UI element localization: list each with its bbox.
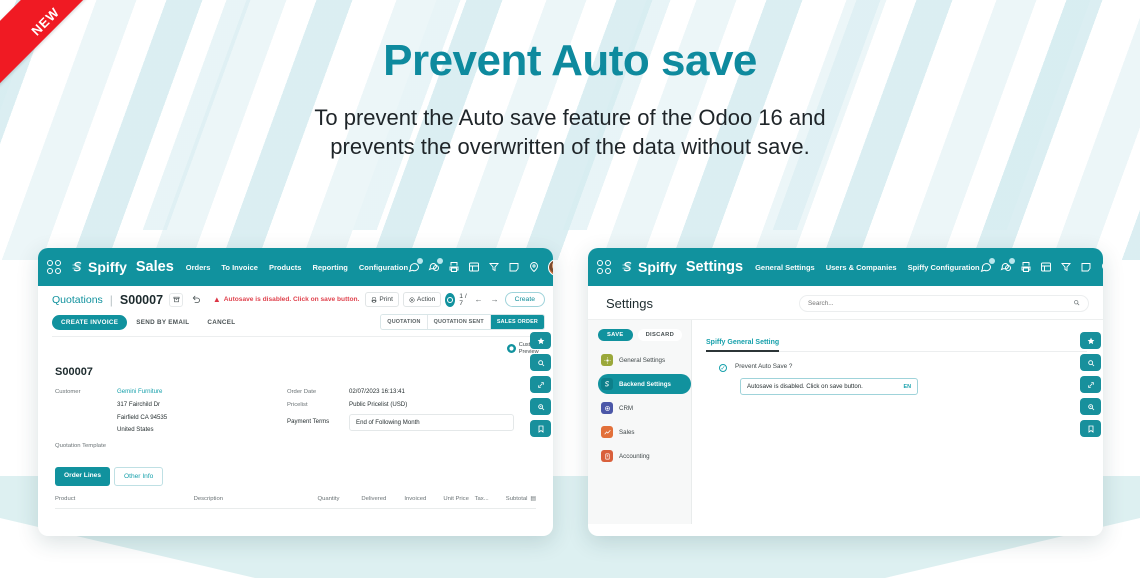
apps-grid-icon[interactable] — [47, 260, 61, 274]
brand-logo[interactable]: Spiffy — [620, 259, 677, 275]
left-control-panel: Quotations | S00007 ▲ Autosave is disabl… — [38, 286, 553, 337]
send-by-email-button[interactable]: SEND BY EMAIL — [127, 315, 198, 330]
menu-item-spiffy-configuration[interactable]: Spiffy Configuration — [908, 263, 980, 272]
record-indicator-icon — [445, 293, 455, 307]
prevent-auto-save-option: ✓ Prevent Auto Save ? — [706, 363, 1087, 372]
sales-order-screenshot: Spiffy Sales Orders To Invoice Products … — [38, 248, 553, 536]
settings-body: SAVE DISCARD General Settings Backend Se… — [588, 319, 1103, 524]
action-button[interactable]: Action — [403, 292, 441, 307]
current-app-name: Sales — [136, 259, 174, 275]
field-address-country: United States — [55, 426, 287, 435]
field-address-country-value: United States — [117, 426, 154, 435]
field-customer-value[interactable]: Gemini Furniture — [117, 388, 162, 397]
star-icon[interactable] — [1080, 332, 1101, 349]
undo-icon[interactable] — [189, 293, 203, 307]
field-customer-label: Customer — [55, 388, 117, 395]
note-icon[interactable] — [508, 261, 520, 273]
spiffy-icon — [601, 378, 613, 390]
check-circle-icon[interactable]: ✓ — [719, 364, 727, 372]
autosave-message-value: Autosave is disabled. Click on save butt… — [747, 383, 863, 390]
menu-item-orders[interactable]: Orders — [186, 263, 211, 272]
field-pricelist-value[interactable]: Public Pricelist (USD) — [349, 401, 407, 410]
customer-preview-button[interactable]: Customer Preview — [38, 337, 553, 356]
settings-main: Spiffy General Setting ✓ Prevent Auto Sa… — [692, 320, 1103, 524]
th-description: Description — [194, 496, 318, 502]
crm-icon — [601, 402, 613, 414]
menu-item-reporting[interactable]: Reporting — [312, 263, 347, 272]
sidebar-item-sales-label: Sales — [619, 429, 634, 436]
messages-badge — [417, 258, 423, 264]
settings-save-discard: SAVE DISCARD — [598, 329, 691, 341]
accounting-icon — [601, 450, 613, 462]
messages-icon[interactable] — [408, 261, 420, 273]
right-tool-tabs — [1080, 332, 1103, 437]
hero-subtitle: To prevent the Auto save feature of the … — [0, 103, 1140, 162]
th-delivered: Delivered — [361, 496, 404, 502]
cancel-button[interactable]: CANCEL — [198, 315, 244, 330]
search-icon[interactable] — [1073, 299, 1080, 308]
settings-sidebar: SAVE DISCARD General Settings Backend Se… — [588, 320, 692, 524]
th-invoiced: Invoiced — [404, 496, 443, 502]
form-right-column: Order Date 02/07/2023 16:13:41 Pricelist… — [287, 388, 539, 453]
breadcrumb-row: Quotations | S00007 ▲ Autosave is disabl… — [52, 292, 545, 307]
megaphone-icon[interactable] — [1060, 261, 1072, 273]
left-navbar: Spiffy Sales Orders To Invoice Products … — [38, 248, 553, 286]
apps-grid-icon[interactable] — [597, 260, 611, 274]
sidebar-item-general-settings-label: General Settings — [619, 357, 665, 364]
discard-button[interactable]: DISCARD — [638, 329, 683, 341]
column-options-icon[interactable]: ▤ — [530, 496, 536, 502]
brand-name: Spiffy — [638, 259, 677, 275]
activities-badge — [1009, 258, 1015, 264]
breadcrumb-record: S00007 — [120, 293, 163, 307]
spiffy-logo-icon — [70, 260, 85, 275]
field-order-date: Order Date 02/07/2023 16:13:41 — [287, 388, 539, 397]
right-nav-menu: General Settings Users & Companies Spiff… — [755, 263, 980, 272]
menu-item-general-settings[interactable]: General Settings — [755, 263, 815, 272]
form-left-column: Customer Gemini Furniture 317 Fairchild … — [55, 388, 287, 453]
field-order-date-value[interactable]: 02/07/2023 16:13:41 — [349, 388, 405, 397]
language-badge[interactable]: EN — [904, 384, 912, 390]
archive-icon[interactable] — [169, 293, 183, 307]
print-button-label: Print — [379, 296, 393, 303]
settings-header: Settings — [588, 286, 1103, 319]
search-input[interactable] — [808, 300, 1073, 307]
sidebar-item-crm[interactable]: CRM — [598, 398, 691, 418]
order-status-bar: QUOTATION QUOTATION SENT SALES ORDER — [380, 314, 545, 330]
field-address-line2: Fairfield CA 94535 — [55, 414, 287, 423]
menu-item-to-invoice[interactable]: To Invoice — [221, 263, 258, 272]
prevent-auto-save-label: Prevent Auto Save ? — [735, 363, 792, 370]
hero-subtitle-line2: prevents the overwritten of the data wit… — [0, 132, 1140, 162]
customer-preview-icon — [507, 344, 516, 353]
sidebar-item-backend-settings-label: Backend Settings — [619, 381, 671, 388]
activities-icon[interactable] — [1000, 261, 1012, 273]
status-sales-order[interactable]: SALES ORDER — [491, 315, 544, 329]
search-icon[interactable] — [530, 354, 551, 371]
hero-subtitle-line1: To prevent the Auto save feature of the … — [0, 103, 1140, 133]
printer-icon[interactable] — [448, 261, 460, 273]
notebook-tabs: Order Lines Other Info — [55, 467, 553, 486]
th-unit-price: Unit Price — [443, 496, 474, 502]
sidebar-item-general-settings[interactable]: General Settings — [598, 350, 691, 370]
avatar[interactable] — [548, 259, 553, 276]
activities-badge — [437, 258, 443, 264]
action-button-label: Action — [417, 296, 435, 303]
warning-triangle-icon: ▲ — [213, 296, 221, 304]
settings-screenshot: Spiffy Settings General Settings Users &… — [588, 248, 1103, 536]
zoom-icon[interactable] — [1080, 398, 1101, 415]
field-address-line1-label — [55, 401, 117, 402]
megaphone-icon[interactable] — [488, 261, 500, 273]
field-quotation-template-label: Quotation Template — [55, 442, 106, 449]
pager-counter: 1 / 7 — [459, 293, 468, 307]
menu-item-products[interactable]: Products — [269, 263, 302, 272]
gear-icon — [601, 354, 613, 366]
messages-badge — [989, 258, 995, 264]
field-address-line1-value: 317 Fairchild Dr — [117, 401, 160, 410]
bookmark-icon[interactable] — [530, 420, 551, 437]
order-lines-table-header: Product Description Quantity Delivered I… — [55, 496, 536, 509]
autosave-warning: ▲ Autosave is disabled. Click on save bu… — [213, 296, 360, 304]
zoom-icon[interactable] — [530, 398, 551, 415]
right-systray — [980, 259, 1103, 276]
breadcrumb-parent[interactable]: Quotations — [52, 294, 103, 306]
brand-logo[interactable]: Spiffy — [70, 259, 127, 275]
sidebar-item-accounting[interactable]: Accounting — [598, 446, 691, 466]
note-icon[interactable] — [1080, 261, 1092, 273]
current-app-name: Settings — [686, 259, 743, 275]
sidebar-item-accounting-label: Accounting — [619, 453, 650, 460]
search-icon[interactable] — [1080, 354, 1101, 371]
star-icon[interactable] — [530, 332, 551, 349]
messages-icon[interactable] — [980, 261, 992, 273]
th-tax: Tax... — [475, 496, 506, 502]
autosave-warning-text: Autosave is disabled. Click on save butt… — [224, 296, 360, 303]
save-button[interactable]: SAVE — [598, 329, 633, 341]
sidebar-item-backend-settings[interactable]: Backend Settings — [598, 374, 691, 394]
sales-chart-icon — [601, 426, 613, 438]
page-title: Prevent Auto save — [0, 36, 1140, 87]
control-panel-buttons: Print Action 1 / 7 ← → Create — [365, 292, 545, 307]
bookmark-icon[interactable] — [1080, 420, 1101, 437]
pager-next-button[interactable]: → — [489, 295, 501, 304]
settings-search[interactable] — [799, 295, 1089, 312]
field-address-line1: 317 Fairchild Dr — [55, 401, 287, 410]
location-pin-icon[interactable] — [528, 261, 540, 273]
expand-arrows-icon[interactable] — [1080, 376, 1101, 393]
tab-other-info[interactable]: Other Info — [114, 467, 163, 486]
expand-arrows-icon[interactable] — [530, 376, 551, 393]
sidebar-item-sales[interactable]: Sales — [598, 422, 691, 442]
left-tool-tabs — [530, 332, 553, 437]
autosave-message-input[interactable]: Autosave is disabled. Click on save butt… — [740, 378, 918, 395]
menu-item-users-companies[interactable]: Users & Companies — [826, 263, 897, 272]
menu-item-configuration[interactable]: Configuration — [359, 263, 408, 272]
field-pricelist-label: Pricelist — [287, 401, 349, 408]
field-address-line2-value: Fairfield CA 94535 — [117, 414, 167, 423]
status-quotation-sent[interactable]: QUOTATION SENT — [428, 315, 491, 329]
th-quantity: Quantity — [317, 496, 361, 502]
field-payment-terms: Payment Terms End of Following Month — [287, 414, 539, 431]
create-button[interactable]: Create — [505, 292, 545, 307]
field-address-country-label — [55, 426, 117, 427]
grid-icon[interactable] — [1040, 261, 1052, 273]
field-order-date-label: Order Date — [287, 388, 349, 395]
field-payment-terms-value[interactable]: End of Following Month — [349, 414, 514, 431]
sidebar-item-crm-label: CRM — [619, 405, 633, 412]
statusbar-row: CREATE INVOICE SEND BY EMAIL CANCEL QUOT… — [52, 314, 545, 337]
order-form-sheet: S00007 Customer Gemini Furniture 317 Fai… — [52, 359, 539, 453]
status-quotation[interactable]: QUOTATION — [381, 315, 427, 329]
field-address-line2-label — [55, 414, 117, 415]
spiffy-logo-icon — [620, 260, 635, 275]
grid-icon[interactable] — [468, 261, 480, 273]
field-customer: Customer Gemini Furniture — [55, 388, 287, 397]
field-pricelist: Pricelist Public Pricelist (USD) — [287, 401, 539, 410]
right-navbar: Spiffy Settings General Settings Users &… — [588, 248, 1103, 286]
settings-page-title: Settings — [606, 296, 653, 311]
record-title: S00007 — [52, 359, 539, 378]
field-payment-terms-label: Payment Terms — [287, 414, 349, 425]
hero-text: Prevent Auto save To prevent the Auto sa… — [0, 36, 1140, 162]
th-subtotal: Subtotal — [506, 496, 528, 502]
brand-name: Spiffy — [88, 259, 127, 275]
create-invoice-button[interactable]: CREATE INVOICE — [52, 315, 127, 330]
th-product: Product — [55, 496, 194, 502]
tab-order-lines[interactable]: Order Lines — [55, 467, 110, 486]
location-pin-icon[interactable] — [1100, 261, 1103, 273]
form-fields: Customer Gemini Furniture 317 Fairchild … — [52, 388, 539, 453]
pager-previous-button[interactable]: ← — [473, 295, 485, 304]
field-quotation-template: Quotation Template — [55, 442, 287, 449]
printer-icon[interactable] — [1020, 261, 1032, 273]
left-nav-menu: Orders To Invoice Products Reporting Con… — [186, 263, 408, 272]
print-button[interactable]: Print — [365, 292, 399, 307]
section-title: Spiffy General Setting — [706, 339, 779, 352]
breadcrumb-separator: | — [110, 293, 113, 307]
activities-icon[interactable] — [428, 261, 440, 273]
left-systray — [408, 259, 553, 276]
